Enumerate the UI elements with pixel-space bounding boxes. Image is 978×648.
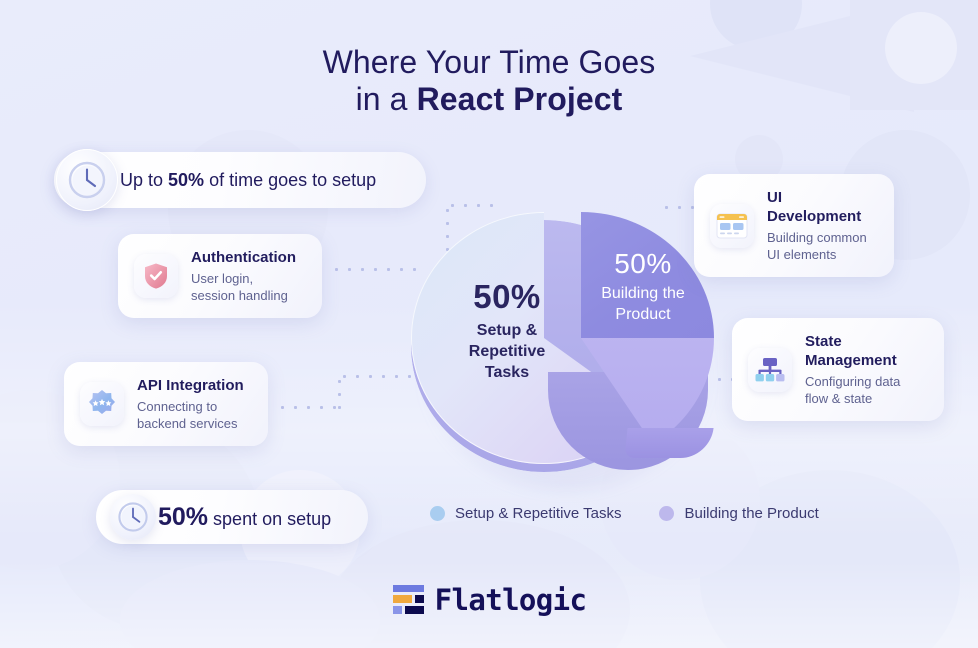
window-layout-icon [710, 204, 754, 248]
card-state-management-title: State Management [805, 332, 928, 370]
legend-label-building: Building the Product [684, 505, 818, 522]
card-ui-development[interactable]: UI Development Building common UI elemen… [694, 174, 894, 277]
legend-label-setup: Setup & Repetitive Tasks [455, 505, 621, 522]
card-authentication-body: Authentication User login, session handl… [191, 248, 296, 304]
card-api-integration-body: API Integration Connecting to backend se… [137, 376, 244, 432]
flatlogic-logo-text: Flatlogic [435, 583, 587, 617]
card-api-integration-title: API Integration [137, 376, 244, 395]
clock-icon [110, 494, 156, 540]
card-state-management[interactable]: State Management Configuring data flow &… [732, 318, 944, 421]
connector-dots [338, 375, 341, 409]
pie-chart: 50% Setup & Repetitive Tasks 50% Buildin… [408, 190, 728, 490]
page-title: Where Your Time Goes in a React Project [0, 44, 978, 118]
clock-icon [56, 149, 118, 211]
title-line-2: in a React Project [0, 81, 978, 118]
bg-circle-decoration [710, 0, 802, 50]
card-ui-development-desc: Building common UI elements [767, 229, 878, 263]
pie-label-setup-name: Setup & Repetitive Tasks [432, 320, 582, 383]
setup-time-badge-top-text: Up to 50% of time goes to setup [120, 170, 376, 191]
legend-item-setup[interactable]: Setup & Repetitive Tasks [430, 505, 621, 522]
api-badge-icon [80, 382, 124, 426]
shield-check-icon [134, 254, 178, 298]
badge-bottom-suffix: spent on setup [208, 509, 331, 529]
badge-top-value: 50% [168, 170, 204, 190]
legend-dot-building [659, 506, 674, 521]
title-line-2-prefix: in a [356, 81, 417, 117]
badge-top-prefix: Up to [120, 170, 168, 190]
card-api-integration-desc: Connecting to backend services [137, 398, 244, 432]
card-authentication[interactable]: Authentication User login, session handl… [118, 234, 322, 318]
flatlogic-logo-mark [392, 585, 426, 615]
card-authentication-desc: User login, session handling [191, 270, 296, 304]
setup-time-badge-bottom-text: 50% spent on setup [158, 503, 331, 532]
hierarchy-nodes-icon [748, 348, 792, 392]
pie-label-building-name: Building the Product [563, 283, 723, 325]
infographic-canvas: Where Your Time Goes in a React Project … [0, 0, 978, 648]
title-line-1: Where Your Time Goes [0, 44, 978, 81]
bg-circle-decoration [700, 470, 960, 648]
card-ui-development-title: UI Development [767, 188, 878, 226]
legend-item-building[interactable]: Building the Product [659, 505, 818, 522]
pie-depth-building-light [624, 428, 713, 458]
card-state-management-body: State Management Configuring data flow &… [805, 332, 928, 407]
badge-bottom-value: 50% [158, 503, 208, 531]
pie-label-setup: 50% Setup & Repetitive Tasks [432, 278, 582, 383]
flatlogic-logo[interactable]: Flatlogic [0, 583, 978, 617]
title-line-2-strong: React Project [417, 81, 623, 117]
badge-top-suffix: of time goes to setup [204, 170, 376, 190]
legend-dot-setup [430, 506, 445, 521]
card-state-management-desc: Configuring data flow & state [805, 373, 928, 407]
chart-legend: Setup & Repetitive Tasks Building the Pr… [430, 505, 819, 522]
connector-dots [276, 406, 340, 409]
pie-label-setup-percent: 50% [432, 278, 582, 316]
card-authentication-title: Authentication [191, 248, 296, 267]
card-ui-development-body: UI Development Building common UI elemen… [767, 188, 878, 263]
card-api-integration[interactable]: API Integration Connecting to backend se… [64, 362, 268, 446]
